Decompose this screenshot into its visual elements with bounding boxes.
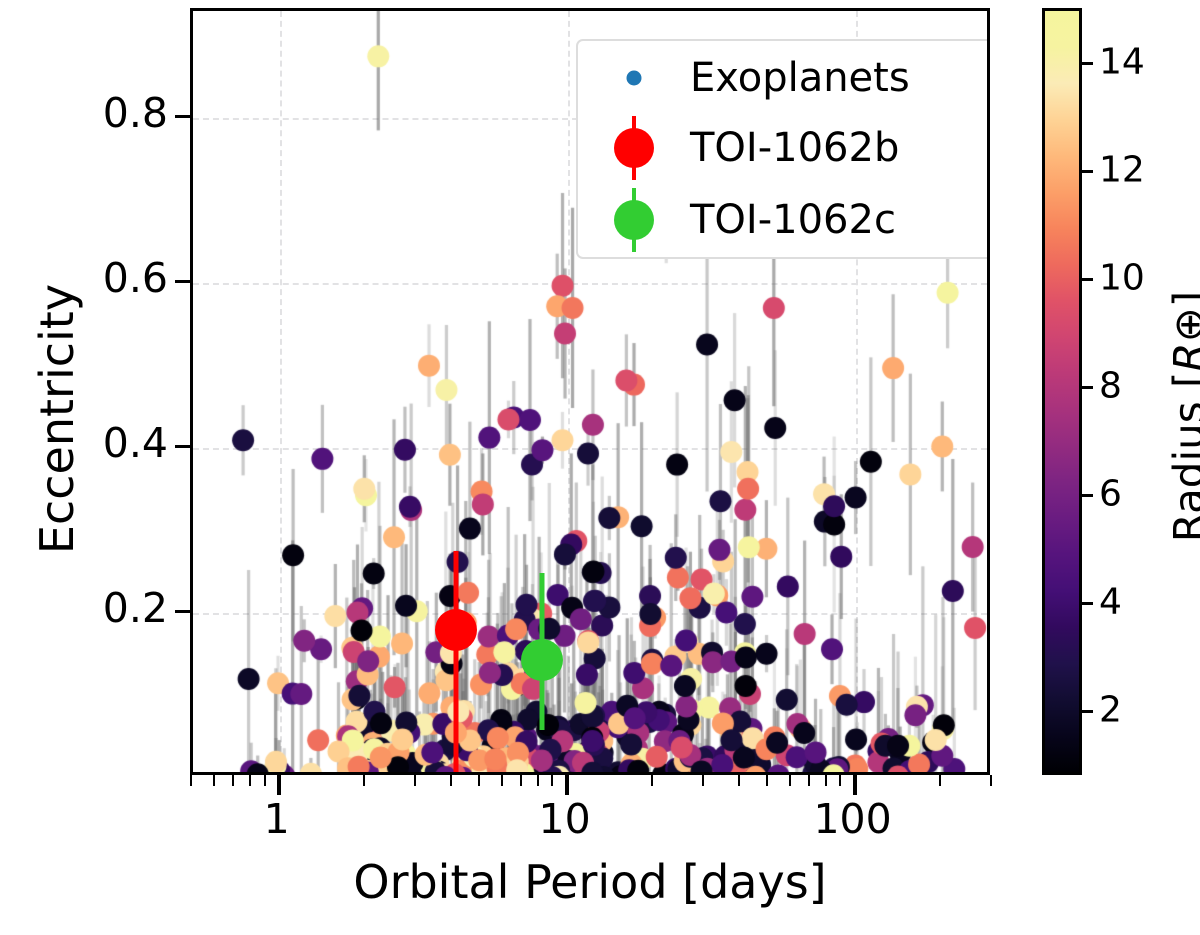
legend-marker-toi-1062b: [578, 115, 690, 181]
x-tick-minor: [249, 775, 251, 786]
y-tick-label: 0.2: [0, 588, 168, 629]
x-tick-minor: [990, 775, 992, 786]
colorbar-tick-mark: [1082, 62, 1093, 65]
x-tick-label: 10: [539, 795, 591, 843]
legend[interactable]: Exoplanets TOI-1062b TOI-1062c: [576, 39, 990, 259]
x-tick-minor: [939, 775, 941, 786]
x-tick-minor: [190, 775, 192, 786]
legend-entry-exoplanets[interactable]: Exoplanets: [578, 45, 990, 111]
x-tick-minor: [478, 775, 480, 786]
colorbar-label-text: Radius [: [1165, 372, 1200, 543]
plot-area: Exoplanets TOI-1062b TOI-1062c: [190, 8, 990, 775]
x-tick-minor: [702, 775, 704, 786]
x-tick-label: 100: [813, 795, 891, 843]
x-tick-label: 1: [264, 795, 290, 843]
colorbar-label-close: ]: [1165, 291, 1200, 307]
y-tick-label: 0.8: [0, 93, 168, 134]
y-tick-mark: [175, 280, 190, 283]
legend-label-exoplanets: Exoplanets: [690, 58, 910, 98]
x-tick-minor: [363, 775, 365, 786]
colorbar-tick-mark: [1082, 710, 1093, 713]
x-tick-minor: [537, 775, 539, 786]
legend-marker-toi-1062c: [578, 187, 690, 253]
colorbar-tick-label: 14: [1099, 42, 1145, 83]
legend-entry-toi-1062c[interactable]: TOI-1062c: [578, 187, 990, 253]
colorbar-tick-label: 8: [1099, 366, 1122, 407]
x-tick-minor: [766, 775, 768, 786]
legend-dot-icon: [614, 128, 654, 168]
x-tick-minor: [520, 775, 522, 786]
colorbar-tick-label: 6: [1099, 474, 1122, 515]
x-tick-mark: [565, 775, 569, 795]
y-tick-mark: [175, 115, 190, 118]
colorbar-label: Radius [R⊕]: [1165, 117, 1200, 717]
x-tick-mark: [277, 775, 281, 795]
colorbar-tick-mark: [1082, 278, 1093, 281]
x-tick-minor: [414, 775, 416, 786]
exoplanet-eccentricity-figure: Exoplanets TOI-1062b TOI-1062c 0.20.40.6…: [0, 0, 1200, 935]
colorbar: [1042, 8, 1082, 775]
legend-dot-icon: [627, 71, 642, 86]
x-tick-minor: [808, 775, 810, 786]
x-tick-minor: [232, 775, 234, 786]
eccentricity-errorbar: [454, 551, 459, 774]
colorbar-label-sub: ⊕: [1165, 307, 1200, 342]
x-tick-minor: [551, 775, 553, 786]
legend-entry-toi-1062b[interactable]: TOI-1062b: [578, 115, 990, 181]
x-tick-minor: [839, 775, 841, 786]
colorbar-tick-mark: [1082, 170, 1093, 173]
colorbar-gradient: [1045, 11, 1079, 772]
x-tick-minor: [651, 775, 653, 786]
planet-marker[interactable]: [521, 639, 563, 681]
y-axis-label: Eccentricity: [30, 69, 84, 769]
y-tick-mark: [175, 610, 190, 613]
legend-dot-icon: [614, 200, 654, 240]
y-tick-label: 0.4: [0, 423, 168, 464]
legend-marker-exoplanets: [578, 45, 690, 111]
x-tick-minor: [264, 775, 266, 786]
x-tick-minor: [450, 775, 452, 786]
colorbar-tick-label: 2: [1099, 690, 1122, 731]
y-tick-label: 0.6: [0, 258, 168, 299]
planet-marker[interactable]: [435, 609, 477, 651]
x-tick-minor: [501, 775, 503, 786]
x-tick-minor: [825, 775, 827, 786]
x-tick-minor: [738, 775, 740, 786]
colorbar-tick-label: 12: [1099, 150, 1145, 191]
colorbar-label-symbol: R: [1165, 342, 1200, 371]
x-tick-minor: [789, 775, 791, 786]
x-tick-mark: [853, 775, 857, 795]
x-axis-label: Orbital Period [days]: [190, 855, 990, 909]
x-tick-minor: [213, 775, 215, 786]
colorbar-tick-mark: [1082, 602, 1093, 605]
colorbar-tick-mark: [1082, 494, 1093, 497]
colorbar-tick-mark: [1082, 386, 1093, 389]
legend-label-toi-1062c: TOI-1062c: [690, 200, 896, 240]
y-tick-mark: [175, 445, 190, 448]
colorbar-tick-label: 10: [1099, 258, 1145, 299]
colorbar-tick-label: 4: [1099, 582, 1122, 623]
legend-label-toi-1062b: TOI-1062b: [690, 128, 899, 168]
